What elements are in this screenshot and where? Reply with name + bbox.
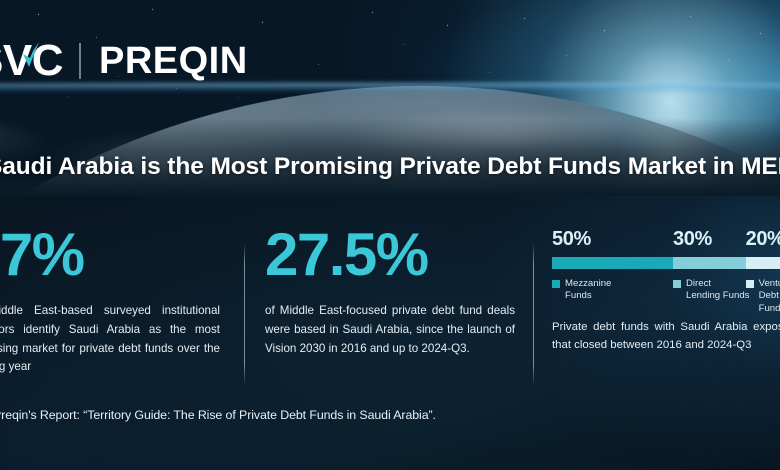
stat-description-1: of Middle East-based surveyed institutio… (0, 302, 220, 377)
column-divider-1 (244, 244, 245, 384)
legend-label-venture-debt: Venture Debt Funds (759, 278, 780, 315)
svc-logo: SVC (0, 39, 65, 83)
stat-block-1: 97% of Middle East-based surveyed instit… (0, 196, 226, 377)
legend-swatch-direct-lending (673, 280, 681, 288)
stat-description-2: of Middle East-focused private debt fund… (265, 302, 515, 358)
stat-value-2: 27.5% (265, 225, 523, 285)
bar-segment-mezzanine (552, 257, 673, 269)
column-divider-2 (533, 244, 534, 384)
stats-columns: 97% of Middle East-based surveyed instit… (0, 196, 780, 470)
bar-track (552, 257, 780, 269)
stat-value-1: 97% (0, 225, 226, 285)
logo-divider (79, 43, 81, 79)
legend-label-direct-lending: Direct Lending Funds (686, 278, 749, 303)
stacked-bar-chart: 50% 30% 20% Mezzanine Funds Direct Lendi… (552, 196, 780, 355)
bar-segment-venture-debt (746, 257, 780, 269)
chart-caption: Private debt funds with Saudi Arabia exp… (552, 318, 780, 355)
chart-legend: Mezzanine Funds Direct Lending Funds Ven… (552, 278, 780, 312)
legend-item-mezzanine: Mezzanine Funds (552, 278, 611, 303)
svc-checkmark-icon (21, 41, 41, 73)
legend-swatch-venture-debt (746, 280, 754, 288)
logo-lockup: SVC PREQIN (0, 36, 248, 86)
bar-value-label-1: 30% (673, 228, 712, 251)
headline-title: Saudi Arabia is the Most Promising Priva… (0, 153, 780, 181)
bar-value-label-0: 50% (552, 228, 591, 251)
preqin-logo-text: PREQIN (99, 42, 248, 80)
stat-block-2: 27.5% of Middle East-focused private deb… (265, 196, 523, 358)
bar-value-labels: 50% 30% 20% (552, 228, 780, 254)
infographic-canvas: SVC PREQIN Saudi Arabia is the Most Prom… (0, 0, 780, 470)
starfield-decoration (0, 0, 1, 1)
legend-item-direct-lending: Direct Lending Funds (673, 278, 749, 303)
legend-swatch-mezzanine (552, 280, 560, 288)
legend-item-venture-debt: Venture Debt Funds (746, 278, 780, 315)
source-text: Preqin's Report: “Territory Guide: The R… (0, 408, 436, 422)
source-footnote: Preqin's Report: “Territory Guide: The R… (0, 408, 436, 422)
legend-label-mezzanine: Mezzanine Funds (565, 278, 611, 303)
bar-segment-direct-lending (673, 257, 746, 269)
bar-value-label-2: 20% (746, 228, 780, 251)
